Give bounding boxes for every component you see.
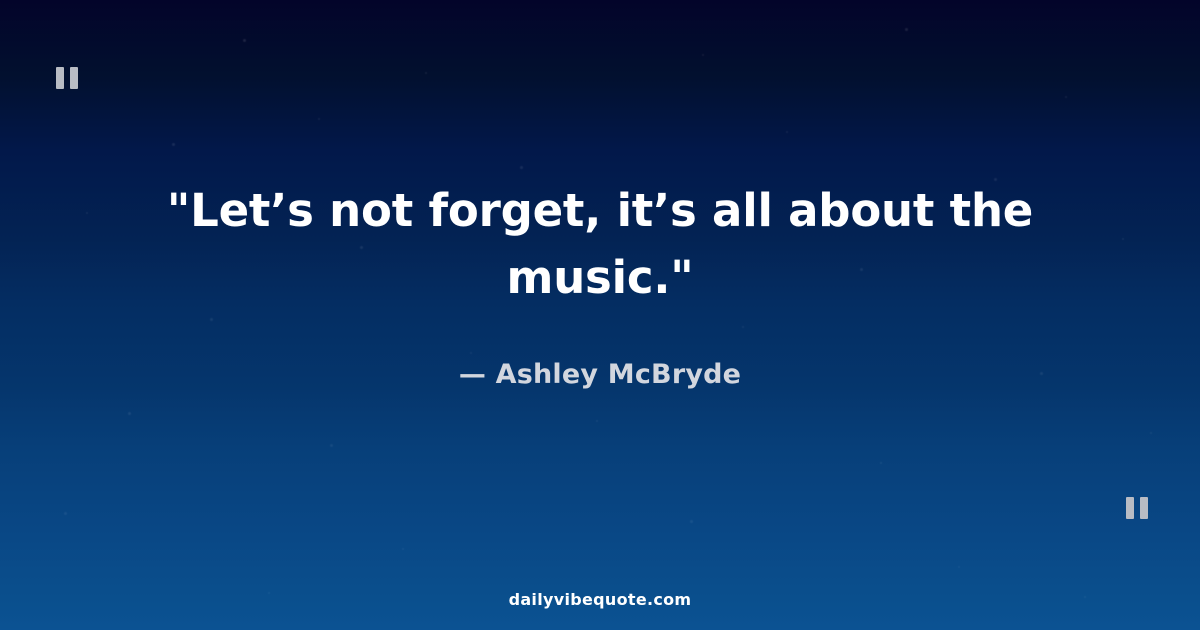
- quote-mark-bar: [1140, 497, 1148, 519]
- quote-text: "Let’s not forget, it’s all about the mu…: [120, 178, 1080, 311]
- quote-card: "Let’s not forget, it’s all about the mu…: [0, 0, 1200, 630]
- quote-attribution: — Ashley McBryde: [459, 359, 741, 390]
- footer-website: dailyvibequote.com: [0, 590, 1200, 609]
- star-speck: [425, 72, 427, 74]
- quote-mark-bar: [70, 67, 78, 89]
- star-speck: [128, 412, 131, 415]
- star-speck: [958, 566, 960, 568]
- star-speck: [402, 548, 404, 550]
- star-speck: [330, 444, 333, 447]
- star-speck: [1065, 96, 1067, 98]
- star-speck: [702, 54, 704, 56]
- star-speck: [243, 39, 246, 42]
- quote-mark-icon-bottom-right: [1126, 497, 1148, 519]
- star-speck: [520, 166, 523, 169]
- star-speck: [318, 118, 320, 120]
- quote-mark-bar: [1126, 497, 1134, 519]
- star-speck: [172, 143, 175, 146]
- star-speck: [880, 462, 882, 464]
- star-speck: [64, 512, 67, 515]
- star-speck: [1150, 432, 1152, 434]
- star-speck: [596, 420, 598, 422]
- star-speck: [690, 520, 693, 523]
- star-speck: [786, 131, 788, 133]
- star-speck: [905, 28, 908, 31]
- quote-content: "Let’s not forget, it’s all about the mu…: [0, 178, 1200, 390]
- quote-mark-icon-top-left: [56, 67, 78, 89]
- quote-mark-bar: [56, 67, 64, 89]
